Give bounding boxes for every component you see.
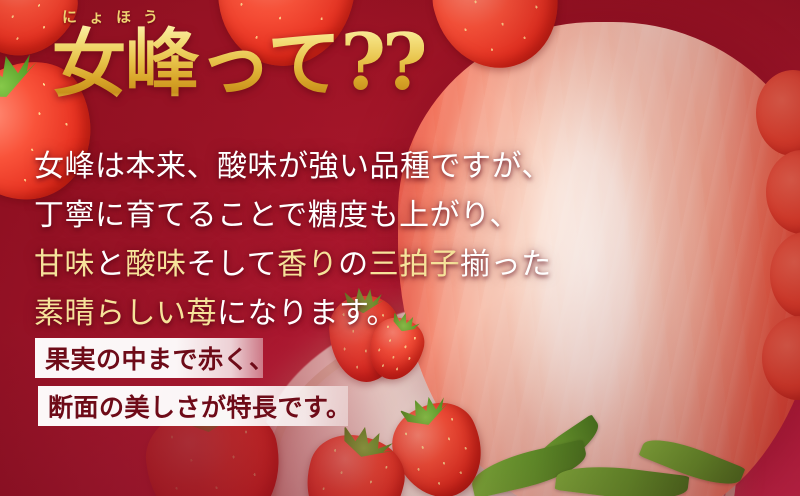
body-text-narimasu: になります。 bbox=[217, 296, 397, 331]
body-line-3: 甘味と酸味そして香りの三拍子揃った bbox=[34, 240, 552, 289]
body-line-2: 丁寧に育てることで糖度も上がり、 bbox=[34, 191, 552, 240]
page-title-base: 女峰 bbox=[52, 21, 198, 107]
banner-content: にょほう 女峰って?? 女峰は本来、酸味が強い品種ですが、 丁寧に育てることで糖… bbox=[0, 0, 800, 496]
body-line-2-text: 丁寧に育てることで糖度も上がり、 bbox=[34, 198, 520, 233]
body-text-no: の bbox=[338, 247, 369, 282]
question-marks-icon: ?? bbox=[340, 17, 423, 108]
page-title: 女峰って?? bbox=[52, 24, 424, 102]
body-text-sorotta: 揃った bbox=[460, 247, 552, 282]
body-text-to: と bbox=[95, 247, 126, 282]
callout-band-1-text: 果実の中まで赤く、 bbox=[35, 340, 275, 376]
body-highlight-kaori: 香り bbox=[277, 247, 338, 282]
body-highlight-amami: 甘味 bbox=[34, 247, 95, 282]
body-line-1: 女峰は本来、酸味が強い品種ですが、 bbox=[34, 142, 552, 191]
body-text-soshite: そして bbox=[187, 247, 278, 282]
callout-band-1: 果実の中まで赤く、 bbox=[35, 338, 263, 378]
callout-band-2: 断面の美しさが特長です。 bbox=[38, 386, 348, 426]
body-highlight-sanbyoushi: 三拍子 bbox=[369, 247, 461, 282]
callout-band-2-text: 断面の美しさが特長です。 bbox=[38, 388, 352, 424]
body-line-1-text: 女峰は本来、酸味が強い品種ですが、 bbox=[34, 149, 552, 184]
strawberry-promo-banner: にょほう 女峰って?? 女峰は本来、酸味が強い品種ですが、 丁寧に育てることで糖… bbox=[0, 0, 800, 496]
body-highlight-subarashii-ichigo: 素晴らしい苺 bbox=[34, 296, 217, 331]
body-copy: 女峰は本来、酸味が強い品種ですが、 丁寧に育てることで糖度も上がり、 甘味と酸味… bbox=[34, 142, 552, 338]
body-line-4: 素晴らしい苺になります。 bbox=[34, 289, 552, 338]
page-title-suffix: って bbox=[198, 21, 340, 107]
body-highlight-sanmi: 酸味 bbox=[126, 247, 187, 282]
